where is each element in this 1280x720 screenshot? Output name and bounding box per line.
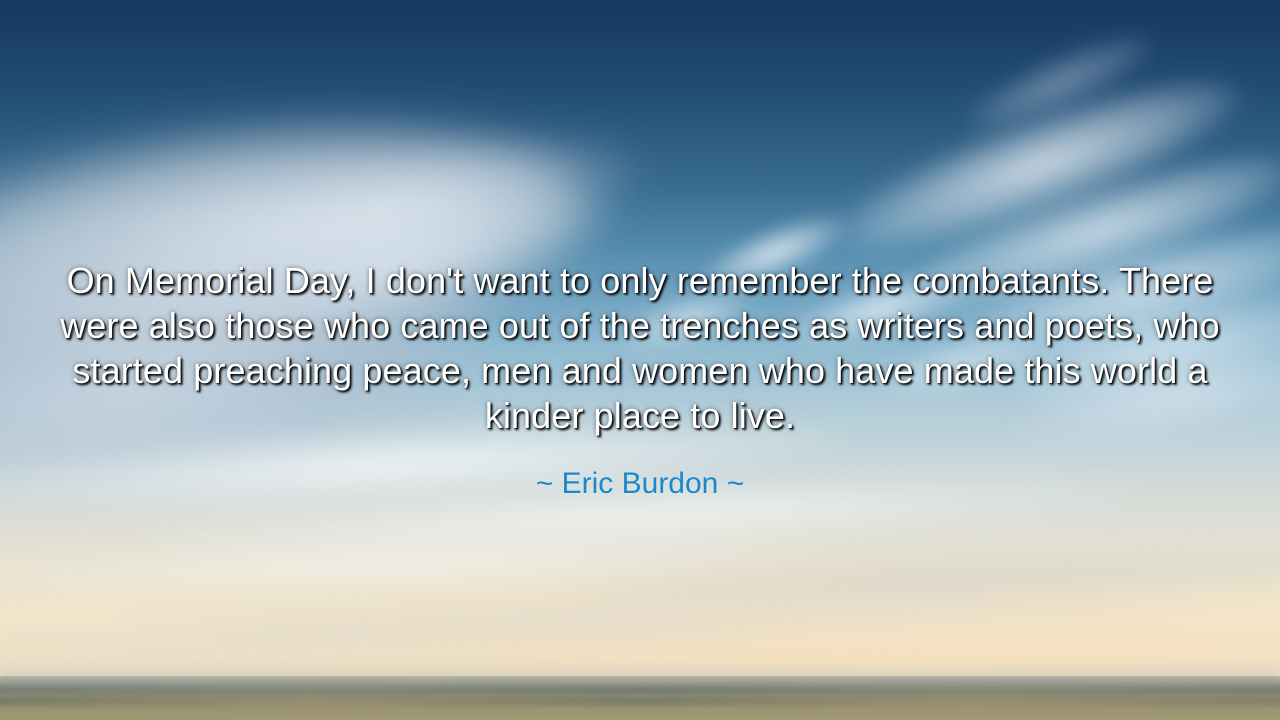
quote-text: On Memorial Day, I don't want to only re… <box>56 258 1224 438</box>
quote-card: On Memorial Day, I don't want to only re… <box>0 0 1280 720</box>
quote-block: On Memorial Day, I don't want to only re… <box>0 258 1280 502</box>
quote-attribution: ~ Eric Burdon ~ <box>56 466 1224 502</box>
